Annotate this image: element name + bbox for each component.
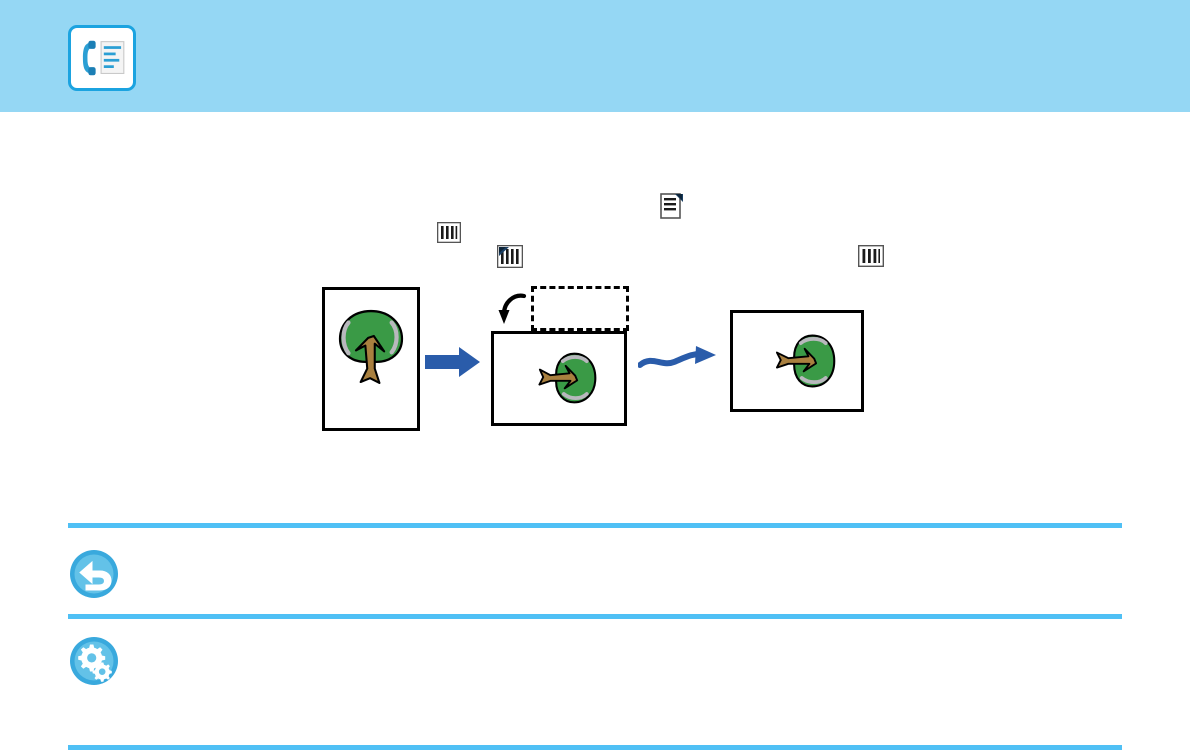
- original-image-rotation-diagram: [0, 112, 1190, 512]
- header-band: [0, 0, 1190, 112]
- source-document-portrait: [322, 287, 420, 431]
- barcode-page-icon: [858, 245, 884, 267]
- divider-rule-top: [68, 523, 1122, 528]
- barcode-page-icon: [437, 222, 461, 243]
- original-orientation-outline: [531, 286, 629, 331]
- divider-rule-middle: [68, 614, 1122, 619]
- barcode-page-folded-icon: [497, 245, 523, 268]
- transmitted-document-landscape: [730, 310, 864, 412]
- rotation-arrow-curved: [496, 290, 530, 330]
- document-lines-icon: [660, 193, 684, 219]
- divider-rule-bottom: [68, 745, 1122, 750]
- cancel-note: [68, 548, 120, 600]
- system-settings-note: [68, 635, 120, 687]
- rotated-document-landscape: [491, 331, 627, 426]
- fax-mode-icon-tile[interactable]: [68, 25, 136, 91]
- fax-mode-icon: [71, 28, 133, 88]
- straight-arrow-right: [425, 345, 481, 379]
- wavy-arrow-right: [638, 343, 720, 377]
- cancel-undo-icon: [68, 548, 120, 600]
- system-settings-gears-icon: [68, 635, 120, 687]
